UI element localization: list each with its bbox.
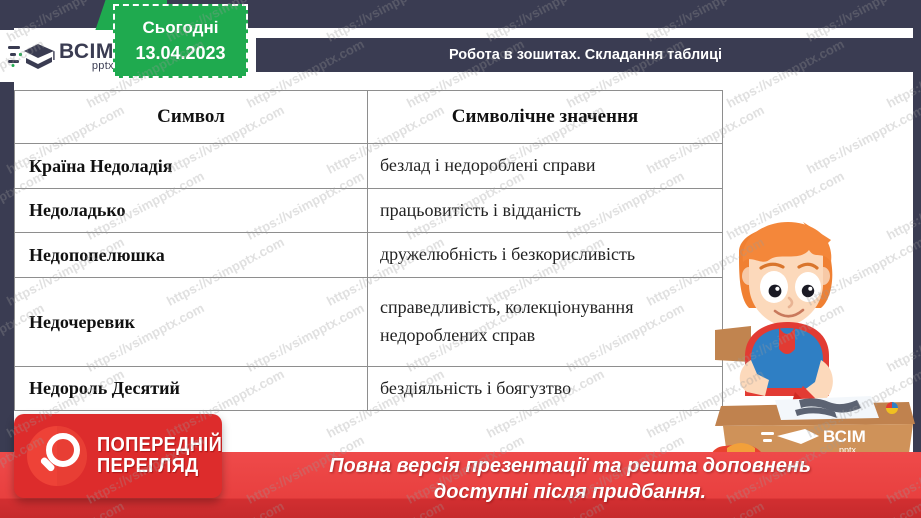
purchase-banner-text: Повна версія презентації та решта доповн… [250, 454, 890, 505]
cell-meaning: безлад і недороблені справи [368, 144, 723, 189]
cell-symbol: Недоладько [15, 189, 368, 233]
graduation-cap-icon [8, 38, 56, 74]
banner-line-2: доступні після придбання. [250, 480, 890, 506]
preview-line-1: ПОПЕРЕДНІЙ [97, 435, 222, 456]
table-row: Недочеревик справедливість, колекціонува… [15, 278, 723, 367]
brand-logo: ВСІМ pptx [0, 30, 128, 82]
preview-line-2: ПЕРЕГЛЯД [97, 456, 222, 477]
today-date-badge: Сьогодні 13.04.2023 [113, 4, 248, 78]
cell-meaning: дружелюбність і безкорисливість [368, 233, 723, 278]
table-row: Недопопелюшка дружелюбність і безкорисли… [15, 233, 723, 278]
date-badge-label: Сьогодні [143, 18, 219, 38]
cell-meaning: справедливість, колекціонування недоробл… [368, 278, 723, 367]
table-header-row: Символ Символічне значення [15, 91, 723, 144]
date-badge-date: 13.04.2023 [135, 43, 225, 64]
table-row: Країна Недоладія безлад і недороблені сп… [15, 144, 723, 189]
banner-line-1: Повна версія презентації та решта доповн… [250, 454, 890, 480]
svg-text:ВСІМ: ВСІМ [823, 427, 866, 446]
boy-writing-at-desk-illustration: ВСІМ pptx [703, 210, 921, 480]
cell-symbol: Недопопелюшка [15, 233, 368, 278]
symbols-table: Символ Символічне значення Країна Недола… [14, 90, 723, 411]
cell-meaning: працьовитість і відданість [368, 189, 723, 233]
cell-symbol: Недочеревик [15, 278, 368, 367]
cell-symbol: Країна Недоладія [15, 144, 368, 189]
preview-badge-label: ПОПЕРЕДНІЙ ПЕРЕГЛЯД [97, 435, 233, 477]
table-row: Недороль Десятий бездіяльність і боягузт… [15, 367, 723, 411]
preview-badge[interactable]: ПОПЕРЕДНІЙ ПЕРЕГЛЯД [14, 414, 222, 498]
cell-symbol: Недороль Десятий [15, 367, 368, 411]
slide-canvas: ВСІМ pptx Сьогодні 13.04.2023 Робота в з… [0, 0, 921, 518]
column-header-symbol: Символ [15, 91, 368, 144]
magnifier-icon [26, 425, 88, 487]
table-row: Недоладько працьовитість і відданість [15, 189, 723, 233]
slide-title-bar: Робота в зошитах. Складання таблиці [256, 38, 915, 72]
cell-meaning: бездіяльність і боягузтво [368, 367, 723, 411]
logo-title: ВСІМ [59, 41, 114, 62]
page-title: Робота в зошитах. Складання таблиці [449, 47, 722, 63]
column-header-meaning: Символічне значення [368, 91, 723, 144]
